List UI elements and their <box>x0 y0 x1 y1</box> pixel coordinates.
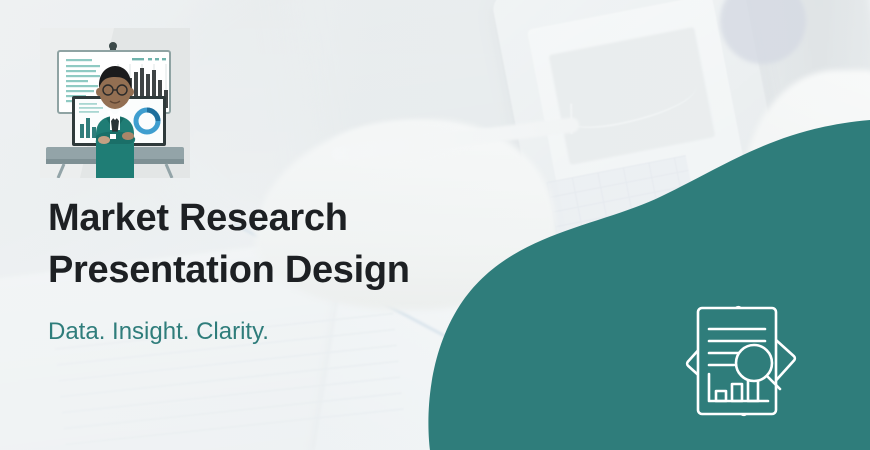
page-title: Market Research Presentation Design <box>48 192 568 296</box>
headline-line-2: Presentation Design <box>48 244 568 296</box>
text-block: Market Research Presentation Design Data… <box>48 192 568 346</box>
person-hand-right <box>122 132 134 140</box>
whiteboard-mount-knob <box>109 42 117 50</box>
person-hand-left <box>98 136 110 144</box>
person-ear-left <box>96 88 102 96</box>
headline-line-1: Market Research <box>48 197 348 239</box>
person-cuff <box>110 134 116 139</box>
presenter-illustration <box>40 28 190 178</box>
banner: Market Research Presentation Design Data… <box>0 0 870 450</box>
person-ear-right <box>128 88 134 96</box>
research-report-icon <box>676 296 806 426</box>
subtitle: Data. Insight. Clarity. <box>48 318 568 346</box>
